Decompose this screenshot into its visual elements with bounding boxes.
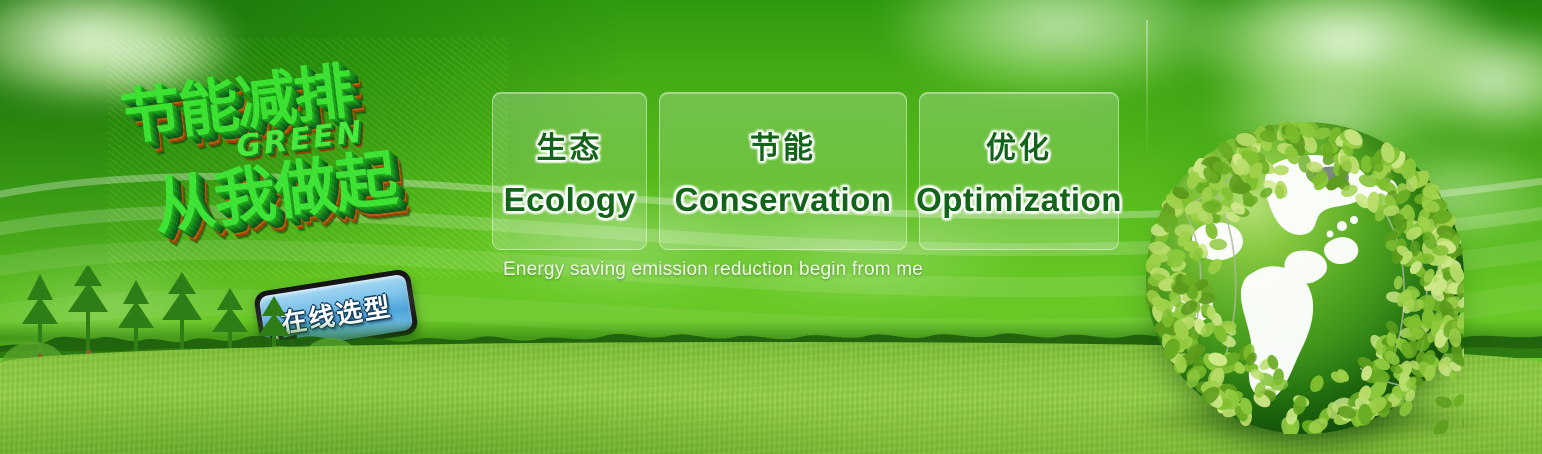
card-title-cn: 优化 (986, 123, 1052, 167)
eco-banner: 节能减排 GREEN 从我做起 生态 Ecology 节能 Conservati… (0, 0, 1542, 454)
card-title-en: Ecology (504, 181, 636, 219)
feature-card-list: 生态 Ecology 节能 Conservation 优化 Optimizati… (492, 92, 1119, 250)
feature-card-ecology[interactable]: 生态 Ecology (492, 92, 647, 250)
card-title-cn: 节能 (750, 123, 816, 167)
card-title-en: Optimization (916, 181, 1122, 219)
feature-card-optimization[interactable]: 优化 Optimization (919, 92, 1119, 250)
card-title-cn: 生态 (537, 123, 603, 167)
globe-sphere (1146, 122, 1464, 434)
tagline: Energy saving emission reduction begin f… (503, 259, 923, 281)
feature-card-conservation[interactable]: 节能 Conservation (659, 92, 907, 250)
leafy-globe-icon (1146, 122, 1464, 434)
card-title-en: Conservation (675, 181, 892, 219)
headline-3d: 节能减排 GREEN 从我做起 (108, 38, 508, 278)
